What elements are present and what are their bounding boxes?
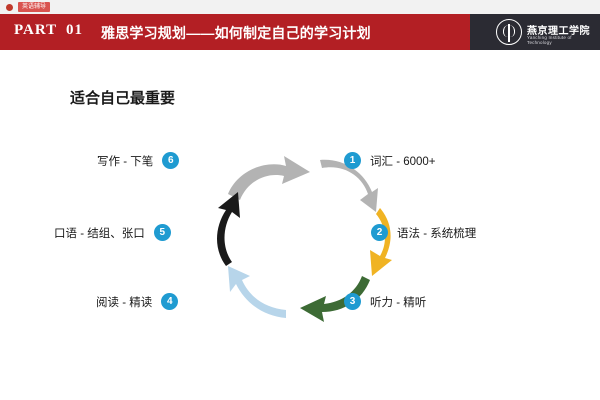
cycle-node-5-label: 口语 - 结组、张口 xyxy=(54,225,145,241)
browser-top-strip: 英语辅导 xyxy=(0,0,600,15)
cycle-node-1-bullet: 1 xyxy=(344,152,361,169)
channel-tag: 英语辅导 xyxy=(18,2,50,12)
university-logo: 燕京理工学院 Yanching Institute of Technology xyxy=(496,17,592,47)
cycle-node-5-bullet: 5 xyxy=(154,224,171,241)
logo-name-en: Yanching Institute of Technology xyxy=(527,35,592,45)
page-title: 雅思学习规划——如何制定自己的学习计划 xyxy=(101,23,371,43)
arrow-right-yellow xyxy=(370,208,392,276)
cycle-node-3-bullet: 3 xyxy=(344,293,361,310)
cycle-node-1[interactable]: 1 词汇 - 6000+ xyxy=(344,152,436,169)
cycle-node-6[interactable]: 写作 - 下笔 6 xyxy=(97,152,179,169)
arrow-bottom-left-lightblue xyxy=(228,266,286,318)
part-number: 01 xyxy=(66,22,83,39)
cycle-node-4[interactable]: 阅读 - 精读 4 xyxy=(96,293,178,310)
app-dot-icon xyxy=(6,4,13,11)
arrow-top-left-gray xyxy=(228,156,310,200)
cycle-diagram: 1 词汇 - 6000+ 2 语法 - 系统梳理 3 听力 - 精听 阅读 - … xyxy=(60,130,520,350)
slide-subtitle: 适合自己最重要 xyxy=(70,87,175,108)
cycle-node-1-label: 词汇 - 6000+ xyxy=(370,153,436,169)
cycle-node-5[interactable]: 口语 - 结组、张口 5 xyxy=(54,224,171,241)
cycle-node-2-bullet: 2 xyxy=(371,224,388,241)
cycle-node-2[interactable]: 2 语法 - 系统梳理 xyxy=(371,224,476,241)
logo-seal-icon xyxy=(496,19,522,45)
cycle-node-4-bullet: 4 xyxy=(161,293,178,310)
cycle-node-3[interactable]: 3 听力 - 精听 xyxy=(344,293,426,310)
cycle-node-6-bullet: 6 xyxy=(162,152,179,169)
cycle-node-4-label: 阅读 - 精读 xyxy=(96,294,152,310)
cycle-node-6-label: 写作 - 下笔 xyxy=(97,153,153,169)
part-label: PART xyxy=(14,22,57,39)
arrow-left-black xyxy=(217,192,240,266)
slide-header: PART 01 雅思学习规划——如何制定自己的学习计划 燕京理工学院 Yanch… xyxy=(0,14,600,50)
cycle-node-3-label: 听力 - 精听 xyxy=(370,294,426,310)
cycle-node-2-label: 语法 - 系统梳理 xyxy=(397,225,476,241)
slide-canvas: 英语辅导 PART 01 雅思学习规划——如何制定自己的学习计划 燕京理工学院 … xyxy=(0,0,600,400)
